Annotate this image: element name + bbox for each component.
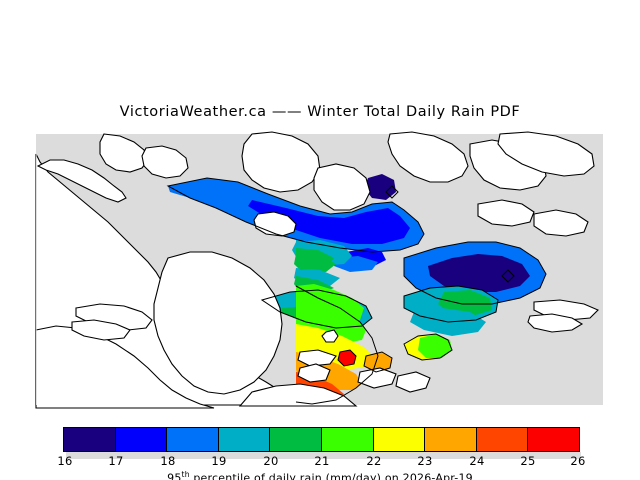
colorbar-tick-17: 17 [108, 454, 123, 468]
colorbar-tick-18: 18 [160, 454, 175, 468]
colorbar-caption: 95th percentile of daily rain (mm/day) o… [0, 470, 640, 480]
colorbar-tick-16: 16 [57, 454, 72, 468]
colorbar-tick-21: 21 [314, 454, 329, 468]
colorbar-tick-19: 19 [211, 454, 226, 468]
colorbar-band-22-23[interactable] [374, 428, 426, 451]
colorbar-caption-superscript: th [182, 470, 190, 479]
colorbar-band-18-19[interactable] [167, 428, 219, 451]
map-canvas [0, 130, 640, 415]
colorbar-tick-23: 23 [417, 454, 432, 468]
colorbar-tick-26: 26 [570, 454, 585, 468]
colorbar-band-19-20[interactable] [219, 428, 271, 451]
colorbar-tick-22: 22 [366, 454, 381, 468]
colorbar-band-24-25[interactable] [477, 428, 529, 451]
map-svg [0, 130, 640, 415]
colorbar-tick-24: 24 [469, 454, 484, 468]
colorbar-band-21-22[interactable] [322, 428, 374, 451]
colorbar-band-25-26[interactable] [528, 428, 579, 451]
colorbar-bands [63, 427, 580, 452]
page-title: VictoriaWeather.ca —— Winter Total Daily… [0, 104, 640, 120]
colorbar-band-23-24[interactable] [425, 428, 477, 451]
colorbar-tick-25: 25 [520, 454, 535, 468]
weather-map-page: VictoriaWeather.ca —— Winter Total Daily… [0, 0, 640, 480]
domain-left-edge [36, 134, 37, 405]
colorbar-caption-rest: percentile of daily rain (mm/day) on 202… [190, 472, 473, 480]
colorbar-caption-prefix: 95 [167, 472, 181, 480]
colorbar-band-20-21[interactable] [270, 428, 322, 451]
colorbar-tick-20: 20 [263, 454, 278, 468]
colorbar: 16 17 18 19 20 21 22 23 24 25 26 95th pe… [0, 418, 640, 480]
colorbar-band-16-17[interactable] [64, 428, 116, 451]
colorbar-band-17-18[interactable] [116, 428, 168, 451]
colorbar-tick-labels: 16 17 18 19 20 21 22 23 24 25 26 [0, 454, 640, 470]
